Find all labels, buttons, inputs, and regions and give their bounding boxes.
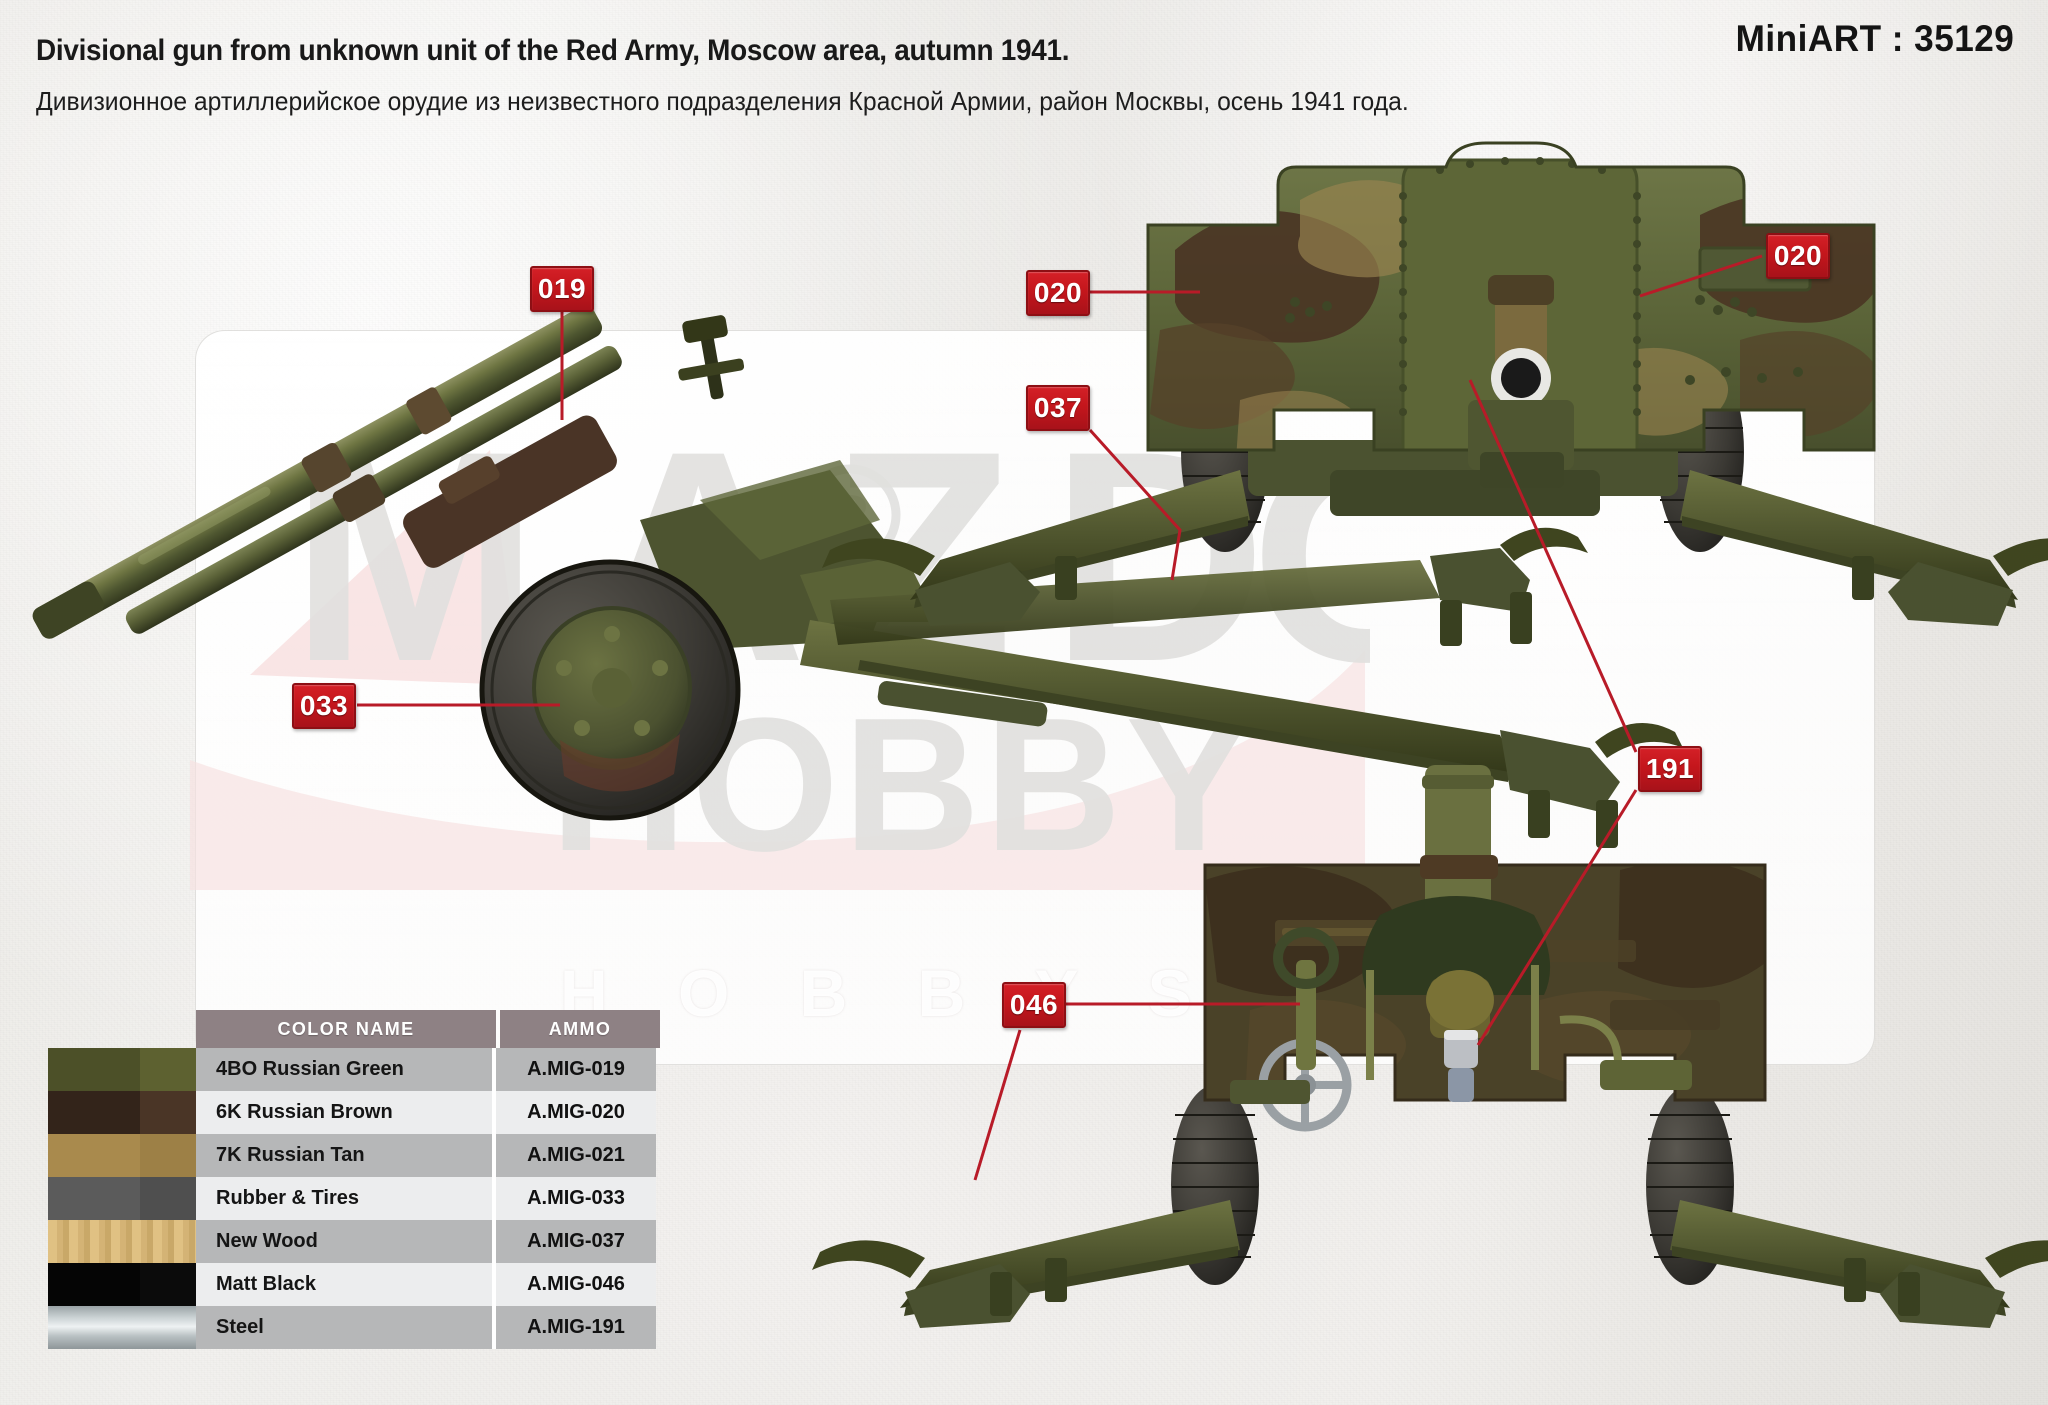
callout-037[interactable]: 037 [1026,385,1090,431]
color-swatch [48,1220,196,1263]
callout-046[interactable]: 046 [1002,982,1066,1028]
color-swatch [48,1306,196,1349]
table-row: 4BO Russian GreenA.MIG-019 [48,1048,668,1091]
table-row: 6K Russian BrownA.MIG-020 [48,1091,668,1134]
color-swatch [48,1177,196,1220]
callout-033[interactable]: 033 [292,683,356,729]
color-swatch [48,1263,196,1306]
color-name-cell: New Wood [196,1220,496,1263]
content-panel [195,330,1875,1065]
header-ammo: AMMO [500,1010,660,1048]
callout-020-left[interactable]: 020 [1026,270,1090,316]
title-english: Divisional gun from unknown unit of the … [36,34,1069,68]
table-header-row: COLOR NAME AMMO [48,1010,668,1048]
ammo-code-cell: A.MIG-033 [496,1177,656,1220]
table-row: SteelA.MIG-191 [48,1306,668,1349]
ammo-code-cell: A.MIG-046 [496,1263,656,1306]
color-legend-table: COLOR NAME AMMO 4BO Russian GreenA.MIG-0… [48,1010,668,1349]
color-swatch [48,1048,196,1091]
ammo-code-cell: A.MIG-191 [496,1306,656,1349]
table-row: Rubber & TiresA.MIG-033 [48,1177,668,1220]
table-body: 4BO Russian GreenA.MIG-0196K Russian Bro… [48,1048,668,1349]
callout-020-right[interactable]: 020 [1766,233,1830,279]
table-row: New WoodA.MIG-037 [48,1220,668,1263]
header-swatch-spacer [48,1010,196,1048]
table-row: Matt BlackA.MIG-046 [48,1263,668,1306]
ammo-code-cell: A.MIG-019 [496,1048,656,1091]
color-name-cell: Rubber & Tires [196,1177,496,1220]
brand-kit-number: MiniART : 35129 [1735,18,2014,60]
table-row: 7K Russian TanA.MIG-021 [48,1134,668,1177]
color-name-cell: 4BO Russian Green [196,1048,496,1091]
ammo-code-cell: A.MIG-021 [496,1134,656,1177]
page-header: Divisional gun from unknown unit of the … [0,0,2048,140]
callout-191[interactable]: 191 [1638,746,1702,792]
color-name-cell: 6K Russian Brown [196,1091,496,1134]
title-russian: Дивизионное артиллерийское орудие из неи… [36,86,1409,117]
callout-019[interactable]: 019 [530,266,594,312]
color-name-cell: Steel [196,1306,496,1349]
ammo-code-cell: A.MIG-020 [496,1091,656,1134]
header-color-name: COLOR NAME [196,1010,496,1048]
color-swatch [48,1134,196,1177]
color-name-cell: 7K Russian Tan [196,1134,496,1177]
color-name-cell: Matt Black [196,1263,496,1306]
ammo-code-cell: A.MIG-037 [496,1220,656,1263]
color-swatch [48,1091,196,1134]
